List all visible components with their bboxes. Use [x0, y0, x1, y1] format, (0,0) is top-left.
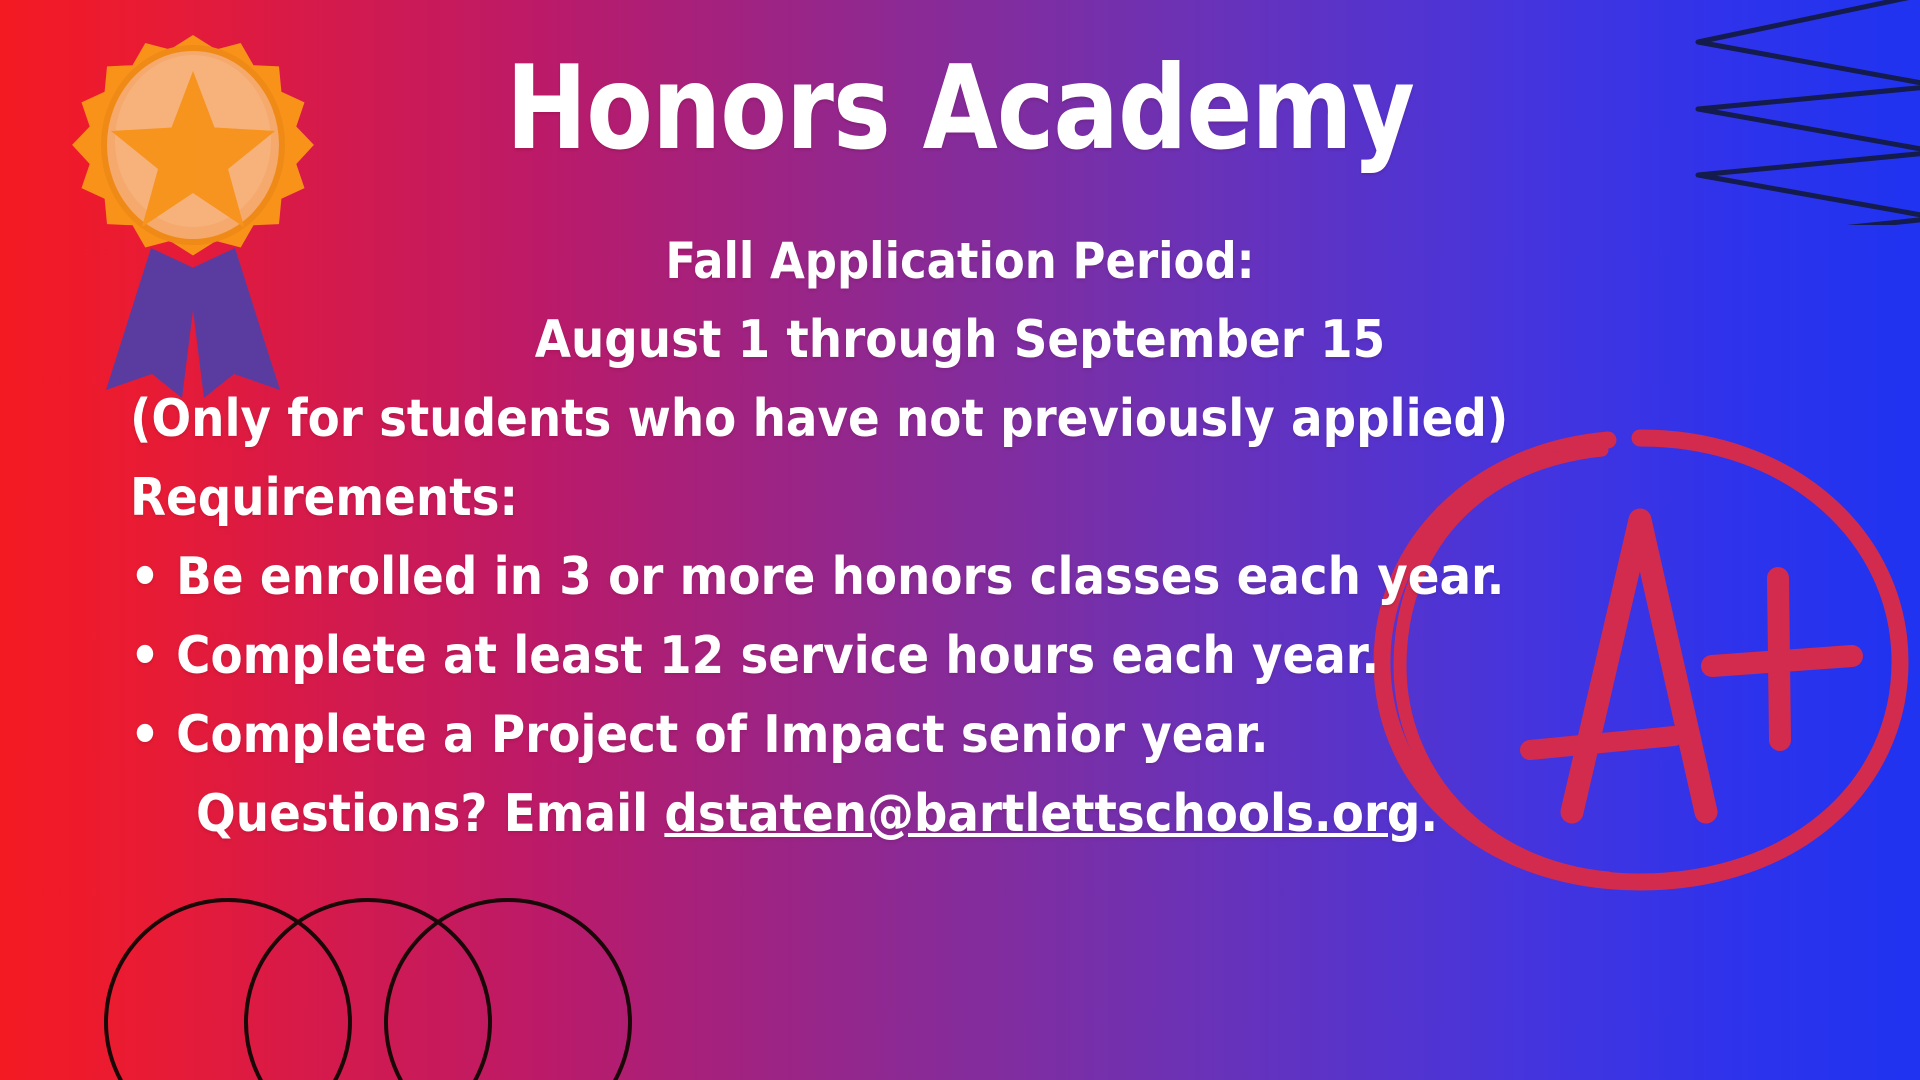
poster-canvas: Honors Academy Fall Application Period: … [0, 0, 1920, 1080]
page-title: Honors Academy [67, 48, 1853, 170]
application-period-label: Fall Application Period: [0, 222, 1920, 301]
requirements-label: Requirements: [0, 459, 1920, 538]
contact-prefix: Questions? Email [196, 784, 664, 844]
requirement-2: • Complete at least 12 service hours eac… [0, 617, 1920, 696]
body-text-block: Fall Application Period: August 1 throug… [0, 222, 1920, 854]
email-link[interactable]: dstaten@bartlettschools.org [664, 784, 1420, 844]
contact-suffix: . [1420, 784, 1438, 844]
requirement-1: • Be enrolled in 3 or more honors classe… [0, 538, 1920, 617]
application-dates: August 1 through September 15 [0, 301, 1920, 380]
contact-line: Questions? Email dstaten@bartlettschools… [0, 775, 1920, 854]
eligibility-note: (Only for students who have not previous… [0, 380, 1920, 459]
requirement-3: • Complete a Project of Impact senior ye… [0, 696, 1920, 775]
